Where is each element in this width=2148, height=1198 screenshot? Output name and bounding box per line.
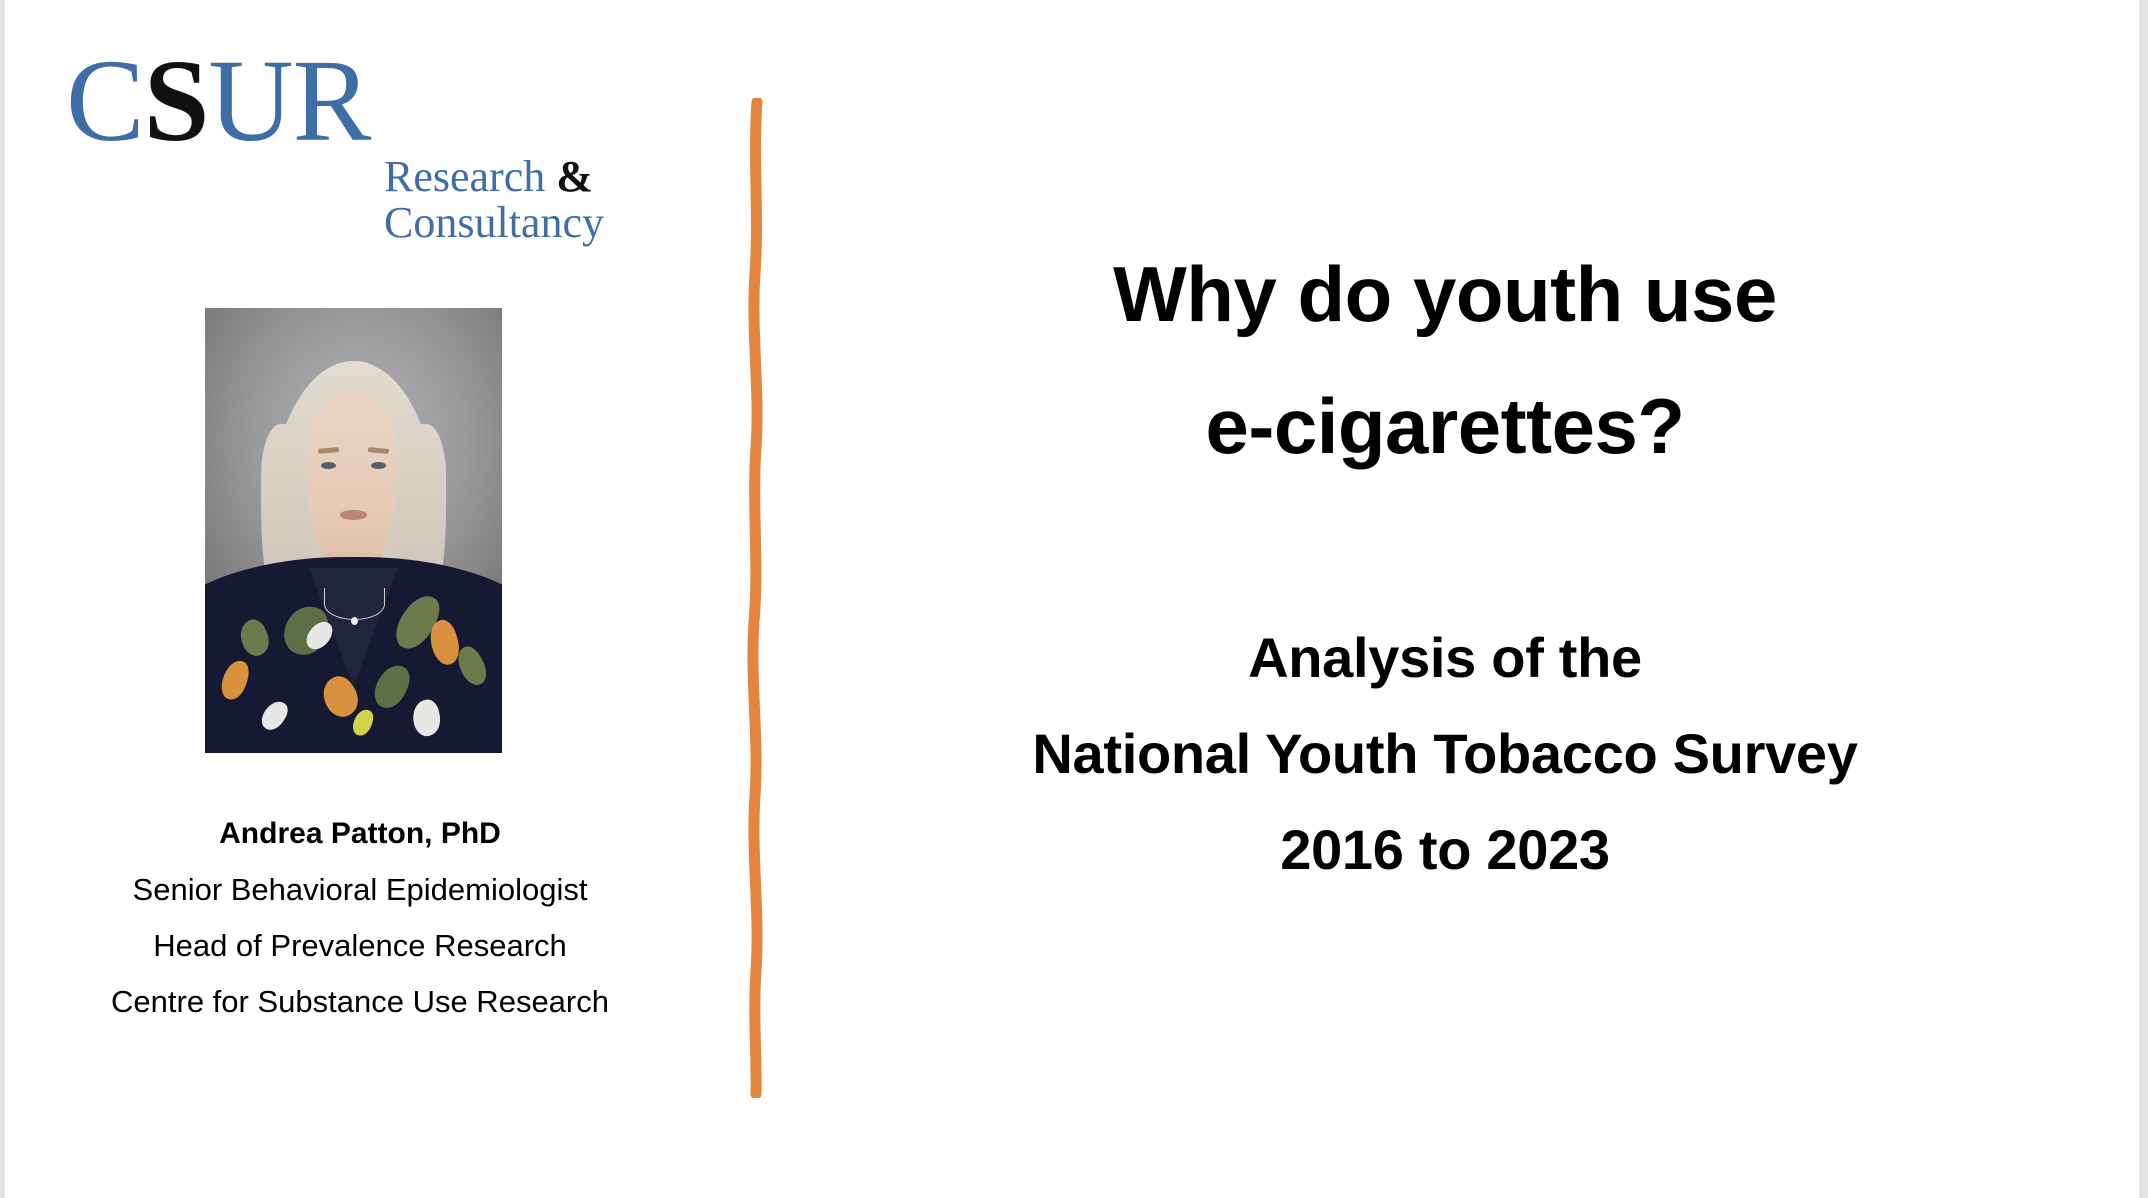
csur-logo-letters-ur: UR [208,35,370,166]
csur-logo-tagline: Research & Consultancy [384,154,604,246]
csur-tagline-ampersand: & [556,152,593,201]
slide-subtitle-line-2: National Youth Tobacco Survey [800,706,2090,802]
slide-title-line-2: e-cigarettes? [800,360,2090,492]
csur-logo: CSUR Research & Consultancy [58,42,678,242]
presenter-role-line-2: Head of Prevalence Research [40,918,680,974]
portrait-eye-right [371,462,386,469]
slide-left-margin-strip [0,0,5,1198]
presentation-slide: CSUR Research & Consultancy [0,0,2148,1198]
slide-subtitle-line-3: 2016 to 2023 [800,802,2090,898]
presenter-organisation: Centre for Substance Use Research [40,974,680,1030]
presenter-portrait-photo [205,308,502,753]
portrait-necklace-pendant [351,617,358,625]
slide-title-line-1: Why do youth use [800,228,2090,360]
slide-title: Why do youth use e-cigarettes? [800,228,2090,492]
csur-tagline-consultancy: Consultancy [384,200,604,246]
orange-wavy-divider-icon [726,98,786,1098]
csur-logo-letter-c: C [66,35,144,166]
csur-tagline-research: Research [384,152,545,201]
slide-subtitle: Analysis of the National Youth Tobacco S… [800,610,2090,898]
presenter-name: Andrea Patton, PhD [40,806,680,862]
presenter-credentials: Andrea Patton, PhD Senior Behavioral Epi… [40,806,680,1030]
slide-right-margin-strip [2139,0,2148,1198]
csur-logo-letter-s: S [144,35,209,166]
portrait-eye-left [321,462,336,469]
csur-logo-wordmark: CSUR [66,42,370,160]
slide-subtitle-line-1: Analysis of the [800,610,2090,706]
presenter-role-line-1: Senior Behavioral Epidemiologist [40,862,680,918]
